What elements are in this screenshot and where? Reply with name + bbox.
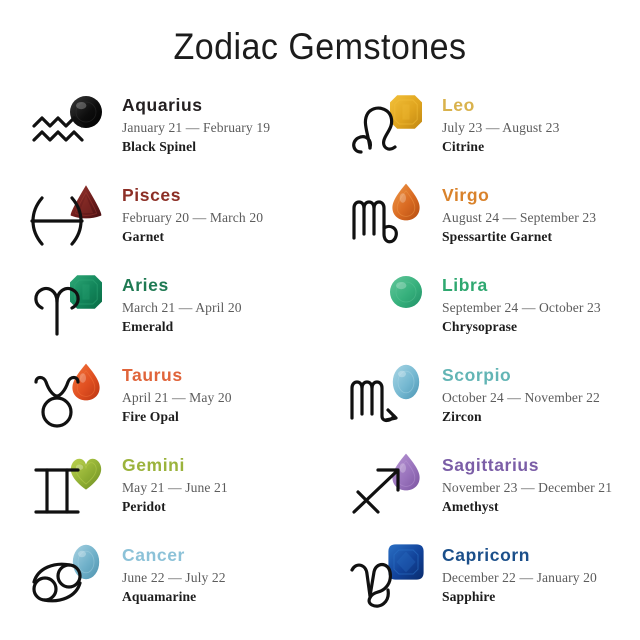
sign-name: Scorpio bbox=[442, 365, 640, 386]
zodiac-art-virgo bbox=[346, 178, 442, 256]
zodiac-art-scorpio bbox=[346, 358, 442, 436]
gemstone-name: Amethyst bbox=[442, 498, 640, 516]
sign-dates: January 21 — February 19 bbox=[122, 118, 320, 138]
zodiac-art-capricorn bbox=[346, 538, 442, 616]
zodiac-art-aries bbox=[26, 268, 122, 346]
zodiac-art-taurus bbox=[26, 358, 122, 436]
zodiac-text-pisces: PiscesFebruary 20 — March 20Garnet bbox=[122, 178, 320, 247]
gemini-symbol-icon bbox=[26, 462, 88, 520]
sign-dates: March 21 — April 20 bbox=[122, 298, 320, 318]
zodiac-text-cancer: CancerJune 22 — July 22Aquamarine bbox=[122, 538, 320, 607]
sign-name: Libra bbox=[442, 275, 640, 296]
zodiac-entry-aquarius: AquariusJanuary 21 — February 19Black Sp… bbox=[0, 88, 320, 178]
cancer-symbol-icon bbox=[26, 552, 88, 610]
zodiac-entry-libra: LibraSeptember 24 — October 23Chrysopras… bbox=[320, 268, 640, 358]
zodiac-entry-virgo: VirgoAugust 24 — September 23Spessartite… bbox=[320, 178, 640, 268]
zodiac-entry-gemini: GeminiMay 21 — June 21Peridot bbox=[0, 448, 320, 538]
gemstone-name: Black Spinel bbox=[122, 138, 320, 156]
zodiac-art-libra bbox=[346, 268, 442, 346]
sign-name: Virgo bbox=[442, 185, 640, 206]
zodiac-entry-aries: AriesMarch 21 — April 20Emerald bbox=[0, 268, 320, 358]
gemstone-name: Aquamarine bbox=[122, 588, 320, 606]
zodiac-entry-pisces: PiscesFebruary 20 — March 20Garnet bbox=[0, 178, 320, 268]
zodiac-art-cancer bbox=[26, 538, 122, 616]
zodiac-text-leo: LeoJuly 23 — August 23Citrine bbox=[442, 88, 640, 157]
zodiac-art-gemini bbox=[26, 448, 122, 526]
zodiac-entry-taurus: TaurusApril 21 — May 20Fire Opal bbox=[0, 358, 320, 448]
sign-name: Aquarius bbox=[122, 95, 320, 116]
zodiac-entry-leo: LeoJuly 23 — August 23Citrine bbox=[320, 88, 640, 178]
pisces-symbol-icon bbox=[26, 192, 88, 250]
virgo-symbol-icon bbox=[346, 192, 408, 250]
sagittarius-symbol-icon bbox=[346, 462, 408, 520]
sign-dates: April 21 — May 20 bbox=[122, 388, 320, 408]
zodiac-entry-scorpio: ScorpioOctober 24 — November 22Zircon bbox=[320, 358, 640, 448]
gemstone-name: Chrysoprase bbox=[442, 318, 640, 336]
capricorn-symbol-icon bbox=[346, 552, 408, 610]
sign-name: Gemini bbox=[122, 455, 320, 476]
zodiac-art-sagittarius bbox=[346, 448, 442, 526]
zodiac-gemstones-poster: Zodiac Gemstones AquariusJanuary 21 — Fe… bbox=[0, 0, 640, 640]
gemstone-name: Garnet bbox=[122, 228, 320, 246]
page-title: Zodiac Gemstones bbox=[26, 0, 615, 68]
zodiac-art-leo bbox=[346, 88, 442, 166]
zodiac-entry-cancer: CancerJune 22 — July 22Aquamarine bbox=[0, 538, 320, 628]
zodiac-entry-sagittarius: SagittariusNovember 23 — December 21Amet… bbox=[320, 448, 640, 538]
sign-dates: November 23 — December 21 bbox=[442, 478, 640, 498]
sign-name: Taurus bbox=[122, 365, 320, 386]
gemstone-name: Fire Opal bbox=[122, 408, 320, 426]
sign-dates: October 24 — November 22 bbox=[442, 388, 640, 408]
zodiac-art-pisces bbox=[26, 178, 122, 256]
gemstone-name: Peridot bbox=[122, 498, 320, 516]
gemstone-name: Zircon bbox=[442, 408, 640, 426]
sign-dates: August 24 — September 23 bbox=[442, 208, 640, 228]
zodiac-text-aquarius: AquariusJanuary 21 — February 19Black Sp… bbox=[122, 88, 320, 157]
zodiac-text-libra: LibraSeptember 24 — October 23Chrysopras… bbox=[442, 268, 640, 337]
sign-name: Leo bbox=[442, 95, 640, 116]
zodiac-art-aquarius bbox=[26, 88, 122, 166]
zodiac-entry-capricorn: CapricornDecember 22 — January 20Sapphir… bbox=[320, 538, 640, 628]
zodiac-text-taurus: TaurusApril 21 — May 20Fire Opal bbox=[122, 358, 320, 427]
gemstone-name: Emerald bbox=[122, 318, 320, 336]
zodiac-text-aries: AriesMarch 21 — April 20Emerald bbox=[122, 268, 320, 337]
libra-symbol-icon bbox=[346, 282, 408, 340]
zodiac-grid: AquariusJanuary 21 — February 19Black Sp… bbox=[0, 88, 640, 628]
taurus-symbol-icon bbox=[26, 372, 88, 430]
zodiac-text-scorpio: ScorpioOctober 24 — November 22Zircon bbox=[442, 358, 640, 427]
gemstone-name: Citrine bbox=[442, 138, 640, 156]
zodiac-text-gemini: GeminiMay 21 — June 21Peridot bbox=[122, 448, 320, 517]
sign-dates: July 23 — August 23 bbox=[442, 118, 640, 138]
gemstone-name: Sapphire bbox=[442, 588, 640, 606]
sign-dates: June 22 — July 22 bbox=[122, 568, 320, 588]
sign-name: Pisces bbox=[122, 185, 320, 206]
sign-name: Capricorn bbox=[442, 545, 640, 566]
zodiac-text-virgo: VirgoAugust 24 — September 23Spessartite… bbox=[442, 178, 640, 247]
leo-symbol-icon bbox=[346, 102, 408, 160]
sign-name: Cancer bbox=[122, 545, 320, 566]
aquarius-symbol-icon bbox=[26, 102, 88, 160]
zodiac-text-sagittarius: SagittariusNovember 23 — December 21Amet… bbox=[442, 448, 640, 517]
sign-dates: May 21 — June 21 bbox=[122, 478, 320, 498]
sign-name: Sagittarius bbox=[442, 455, 640, 476]
zodiac-text-capricorn: CapricornDecember 22 — January 20Sapphir… bbox=[442, 538, 640, 607]
sign-dates: February 20 — March 20 bbox=[122, 208, 320, 228]
sign-name: Aries bbox=[122, 275, 320, 296]
gemstone-name: Spessartite Garnet bbox=[442, 228, 640, 246]
sign-dates: September 24 — October 23 bbox=[442, 298, 640, 318]
sign-dates: December 22 — January 20 bbox=[442, 568, 640, 588]
aries-symbol-icon bbox=[26, 282, 88, 340]
scorpio-symbol-icon bbox=[346, 372, 408, 430]
